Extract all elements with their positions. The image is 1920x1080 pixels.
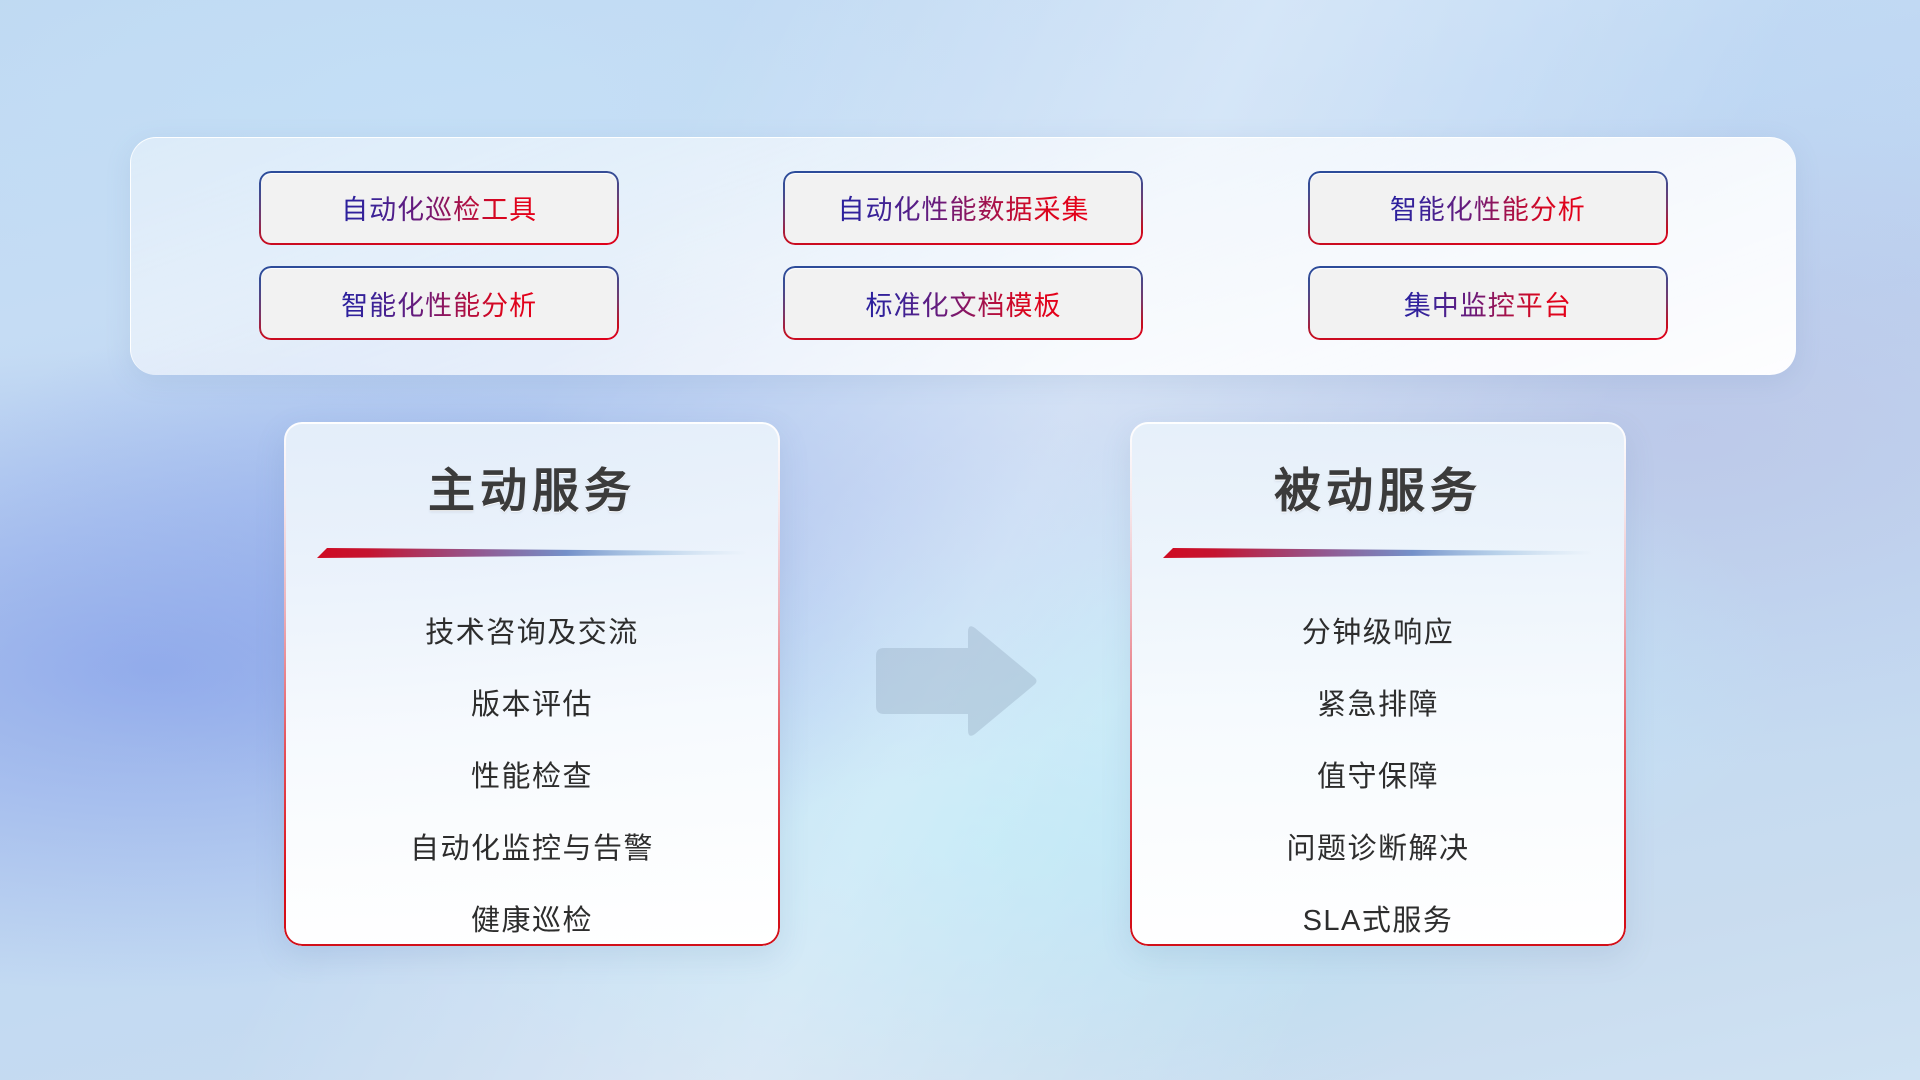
card-divider	[317, 547, 747, 559]
service-card-reactive: 被动服务 分钟级响应 紧急排障 值守保障 问题诊断解决 SLA式服务	[1130, 422, 1626, 946]
tool-pill-label: 智能化性能分析	[341, 284, 537, 323]
list-item: 健康巡检	[284, 885, 780, 946]
list-item: 值守保障	[1130, 741, 1626, 813]
capability-tools-panel: 自动化巡检工具 自动化性能数据采集 智能化性能分析 智能化性能分析 标准化文档模…	[130, 137, 1796, 375]
tool-pill-label: 标准化文档模板	[865, 284, 1061, 323]
list-item: 问题诊断解决	[1130, 813, 1626, 885]
tool-pill-label: 自动化巡检工具	[341, 188, 537, 227]
tool-pill[interactable]: 标准化文档模板	[785, 268, 1141, 338]
list-item: SLA式服务	[1130, 885, 1626, 946]
tool-pill[interactable]: 自动化性能数据采集	[785, 173, 1141, 243]
tool-pill[interactable]: 智能化性能分析	[1310, 173, 1666, 243]
card-divider	[1163, 547, 1593, 559]
list-item: 技术咨询及交流	[284, 597, 780, 669]
tool-pill[interactable]: 集中监控平台	[1310, 268, 1666, 338]
right-arrow-icon	[872, 622, 1038, 740]
tool-pill[interactable]: 智能化性能分析	[261, 268, 617, 338]
service-card-proactive: 主动服务 技术咨询及交流 版本评估 性能检查 自动化监控与告警 健康巡检	[284, 422, 780, 946]
list-item: 紧急排障	[1130, 669, 1626, 741]
list-item: 自动化监控与告警	[284, 813, 780, 885]
card-title: 被动服务	[1130, 452, 1626, 521]
list-item: 版本评估	[284, 669, 780, 741]
tool-pill-label: 自动化性能数据采集	[837, 188, 1089, 227]
service-item-list: 分钟级响应 紧急排障 值守保障 问题诊断解决 SLA式服务	[1130, 597, 1626, 946]
tool-pill[interactable]: 自动化巡检工具	[261, 173, 617, 243]
service-item-list: 技术咨询及交流 版本评估 性能检查 自动化监控与告警 健康巡检	[284, 597, 780, 946]
tool-pill-label: 集中监控平台	[1404, 284, 1572, 323]
list-item: 分钟级响应	[1130, 597, 1626, 669]
list-item: 性能检查	[284, 741, 780, 813]
card-title: 主动服务	[284, 452, 780, 521]
tool-pill-label: 智能化性能分析	[1390, 188, 1586, 227]
